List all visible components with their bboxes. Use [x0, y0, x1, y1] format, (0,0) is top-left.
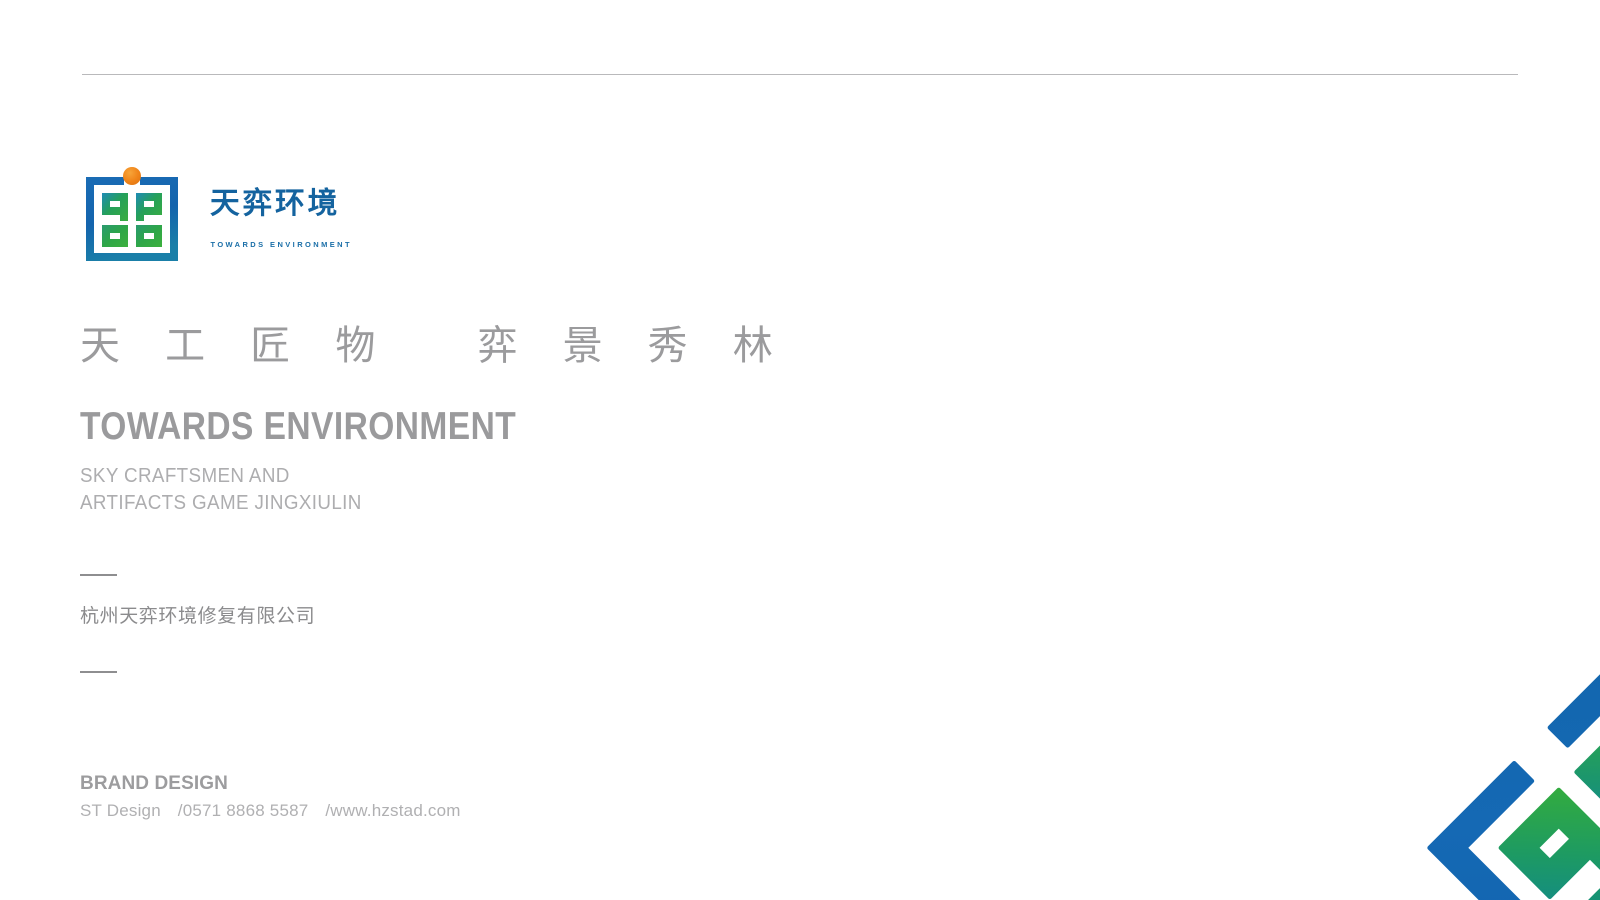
orange-dot-icon — [123, 167, 141, 185]
logo-chinese-characters: 天弈环境 — [210, 173, 478, 233]
logo-en-text: TOWARDS ENVIRONMENT — [210, 240, 352, 249]
brand-design-label: BRAND DESIGN — [80, 774, 228, 795]
contact-phone[interactable]: /0571 8868 5587 — [178, 801, 309, 820]
corner-spiral-bl — [1572, 861, 1600, 900]
company-name-chinese: 杭州天弈环境修复有限公司 — [80, 607, 315, 628]
slogan-sub-line-2: ARTIFACTS GAME JINGXIULIN — [80, 492, 362, 514]
contact-website[interactable]: /www.hzstad.com — [325, 801, 460, 820]
divider-dash-lower — [80, 671, 117, 673]
corner-spiral-tr — [1577, 714, 1600, 834]
brand-cover-page: 天弈环境 TOWARDS ENVIRONMENT 天 工 匠 物 弈 景 秀 林… — [0, 0, 1600, 900]
logo-wordmark: 天弈环境 TOWARDS ENVIRONMENT — [210, 163, 478, 252]
designer-name: ST Design — [80, 801, 161, 820]
divider-dash-upper — [80, 574, 117, 576]
brand-logo-lockup: 天弈环境 TOWARDS ENVIRONMENT — [80, 163, 478, 267]
footer-credit-line: ST Design /0571 8868 5587 /www.hzstad.co… — [80, 802, 461, 821]
towards-environment-maze-mark-icon — [80, 163, 184, 267]
logo-cn-text: 天弈环境 — [210, 186, 340, 220]
credit-separator-1 — [161, 801, 178, 820]
corner-frame-band — [1430, 643, 1600, 900]
slogan-sub-line-1: SKY CRAFTSMEN AND — [80, 465, 290, 487]
corner-decorative-logo-graphic — [1170, 500, 1600, 900]
corner-spiral-tl — [1501, 790, 1600, 900]
slogan-english-headline: TOWARDS ENVIRONMENT — [80, 407, 516, 446]
credit-separator-2 — [308, 801, 325, 820]
slogan-english-subline: SKY CRAFTSMEN AND ARTIFACTS GAME JINGXIU… — [80, 463, 362, 517]
logo-english-wordmark: TOWARDS ENVIRONMENT — [210, 237, 472, 252]
top-divider-rule — [82, 74, 1518, 75]
slogan-chinese: 天 工 匠 物 弈 景 秀 林 — [80, 326, 790, 366]
